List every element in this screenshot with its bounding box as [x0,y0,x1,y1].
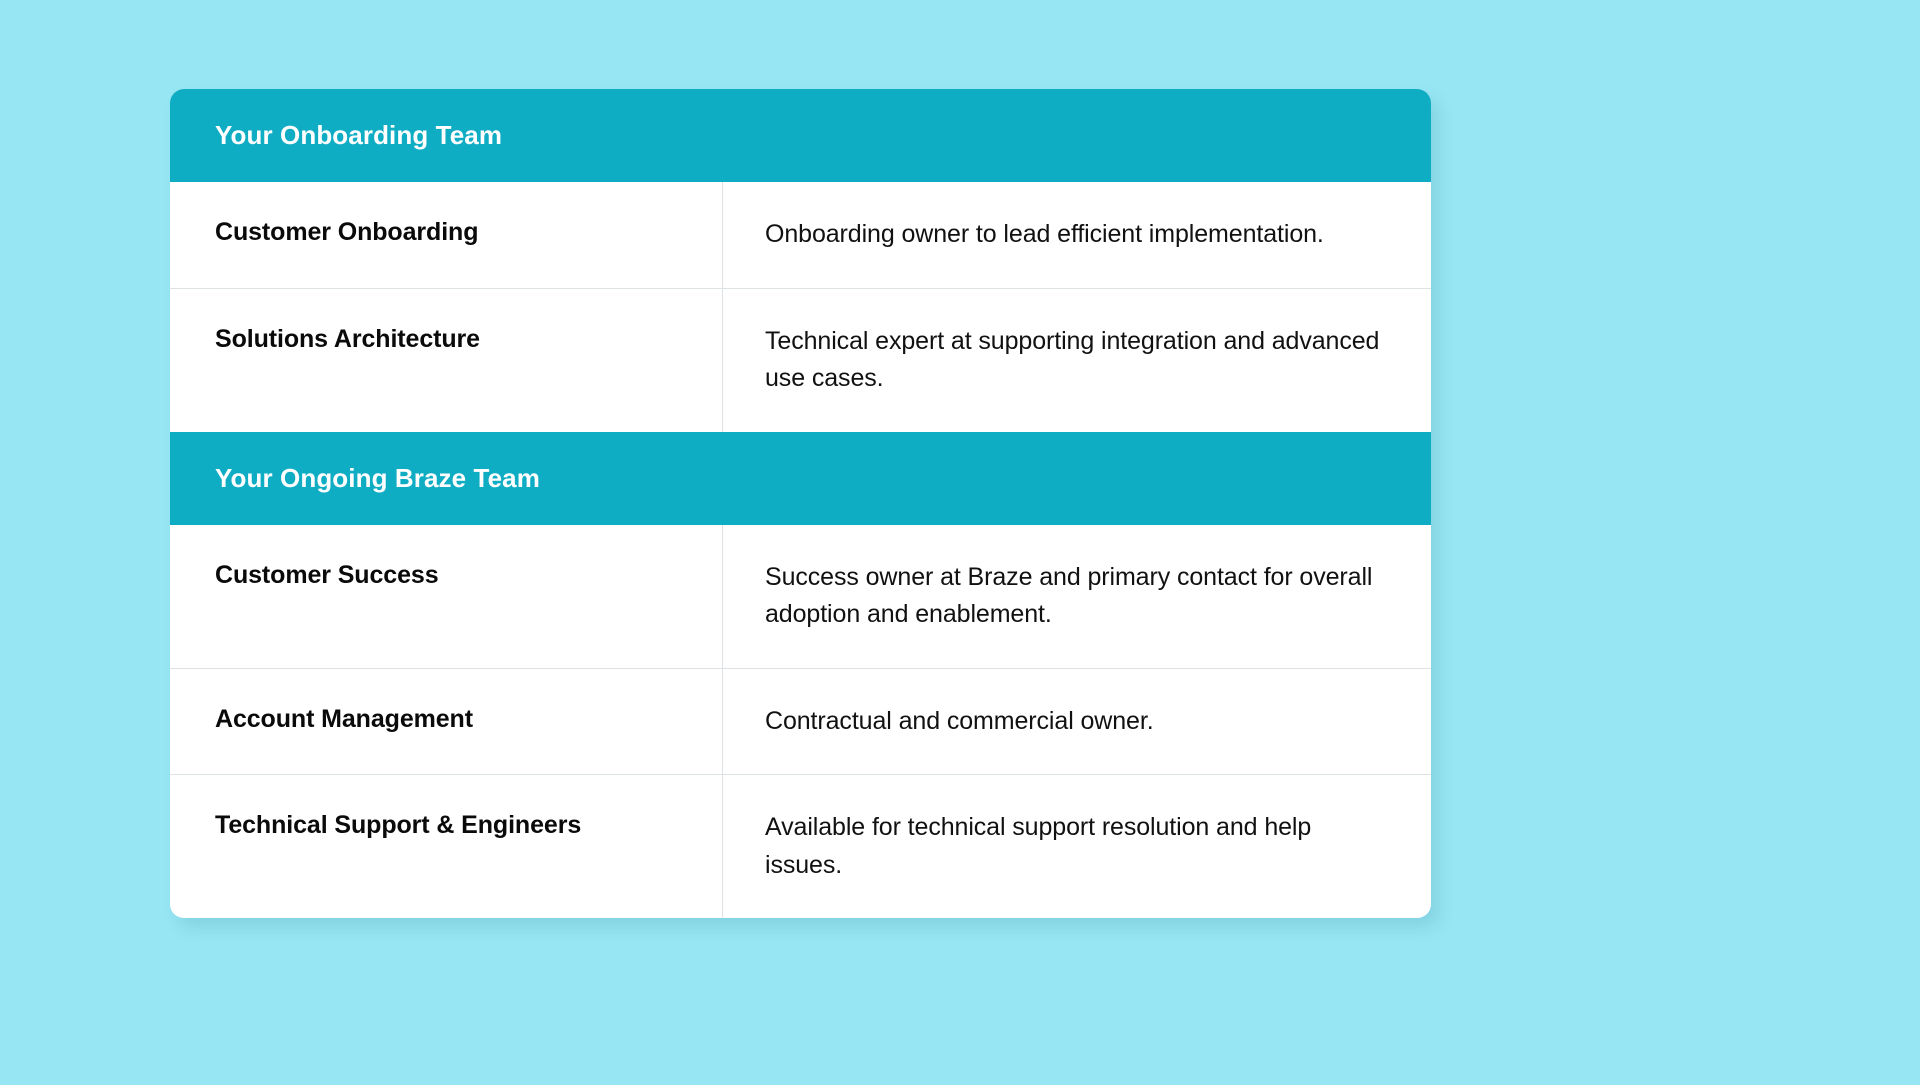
description-cell: Available for technical support resoluti… [723,775,1431,918]
role-label: Customer Success [215,559,439,593]
role-label: Customer Onboarding [215,216,478,250]
role-label: Solutions Architecture [215,323,480,357]
table-row: Customer Onboarding Onboarding owner to … [170,182,1431,288]
description-cell: Technical expert at supporting integrati… [723,289,1431,432]
table-row: Account Management Contractual and comme… [170,668,1431,775]
table-row: Technical Support & Engineers Available … [170,774,1431,918]
description-text: Onboarding owner to lead efficient imple… [765,216,1324,254]
description-text: Contractual and commercial owner. [765,703,1154,741]
description-cell: Onboarding owner to lead efficient imple… [723,182,1431,288]
role-cell: Customer Success [170,525,723,668]
role-label: Technical Support & Engineers [215,809,581,843]
table-row: Solutions Architecture Technical expert … [170,288,1431,432]
role-cell: Solutions Architecture [170,289,723,432]
table-row: Customer Success Success owner at Braze … [170,525,1431,668]
role-label: Account Management [215,703,473,737]
description-text: Available for technical support resoluti… [765,809,1391,884]
section-title: Your Ongoing Braze Team [215,463,1431,494]
section-title: Your Onboarding Team [215,120,1431,151]
description-text: Technical expert at supporting integrati… [765,323,1391,398]
section-header-ongoing-braze-team: Your Ongoing Braze Team [170,432,1431,525]
section-header-onboarding-team: Your Onboarding Team [170,89,1431,182]
description-cell: Success owner at Braze and primary conta… [723,525,1431,668]
team-roles-table-card: Your Onboarding Team Customer Onboarding… [170,89,1431,918]
role-cell: Technical Support & Engineers [170,775,723,918]
description-text: Success owner at Braze and primary conta… [765,559,1391,634]
role-cell: Account Management [170,669,723,775]
description-cell: Contractual and commercial owner. [723,669,1431,775]
role-cell: Customer Onboarding [170,182,723,288]
